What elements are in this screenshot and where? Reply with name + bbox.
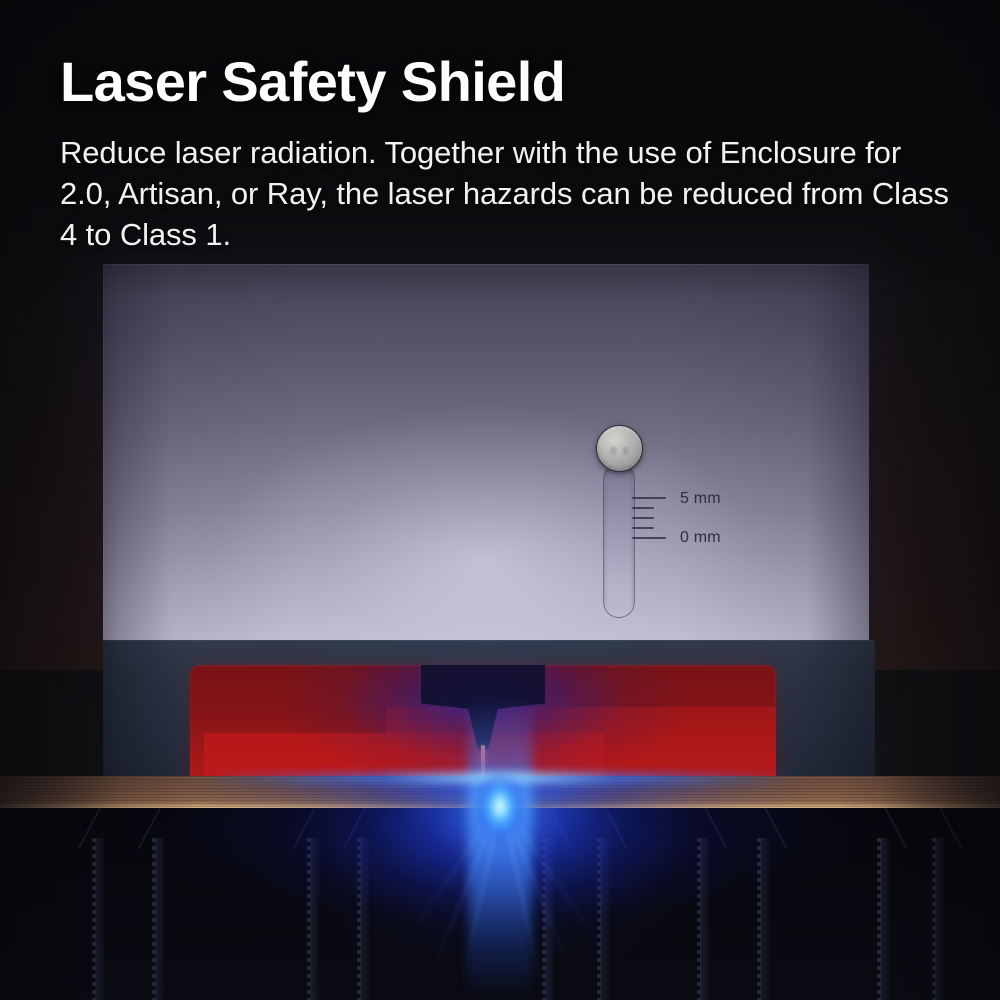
bed-slat [880, 838, 889, 1000]
red-acrylic-window [190, 665, 776, 785]
bed-slat [310, 838, 319, 1000]
bed-slat [95, 838, 104, 1000]
bed-slat [545, 838, 554, 1000]
hero-header: Laser Safety Shield Reduce laser radiati… [60, 54, 960, 255]
bed-slat [155, 838, 164, 1000]
scale-tick-marks [632, 497, 674, 559]
tick-minor-2 [632, 517, 654, 519]
knob-dimple-left [609, 446, 618, 457]
bed-slat [760, 838, 769, 1000]
page-description: Reduce laser radiation. Together with th… [60, 132, 950, 255]
window-inner-plate-2 [386, 707, 776, 785]
tick-minor-1 [632, 507, 654, 509]
bed-glow-core [220, 808, 780, 1000]
wood-grain-texture [0, 776, 1000, 808]
bed-slat [700, 838, 709, 1000]
bed-slat [935, 838, 944, 1000]
bed-slat [360, 838, 369, 1000]
knob-knurl-texture [596, 425, 643, 472]
height-adjuster-assembly[interactable]: 5 mm 0 mm [564, 425, 704, 642]
laser-bed-slats [0, 808, 1000, 1000]
scale-label-top: 5 mm [680, 490, 721, 508]
product-hero-scene: 5 mm 0 mm Laser Safety Shield Reduce las… [0, 0, 1000, 1000]
panel-texture [103, 264, 869, 642]
wood-shadow-right [840, 776, 1000, 808]
page-title: Laser Safety Shield [60, 54, 960, 110]
bed-slat [600, 838, 609, 1000]
adjuster-slot-track[interactable] [603, 463, 635, 618]
height-adjust-knob[interactable] [596, 425, 643, 472]
tick-major-5mm [632, 497, 666, 499]
wood-shadow-left [0, 776, 200, 808]
workpiece-wood-board [0, 776, 1000, 808]
tick-minor-3 [632, 527, 654, 529]
safety-shield-panel: 5 mm 0 mm [103, 264, 869, 642]
knob-dimple-right [621, 446, 630, 457]
wood-laser-illumination [120, 776, 880, 808]
tick-major-0mm [632, 537, 666, 539]
scale-label-bottom: 0 mm [680, 529, 721, 547]
